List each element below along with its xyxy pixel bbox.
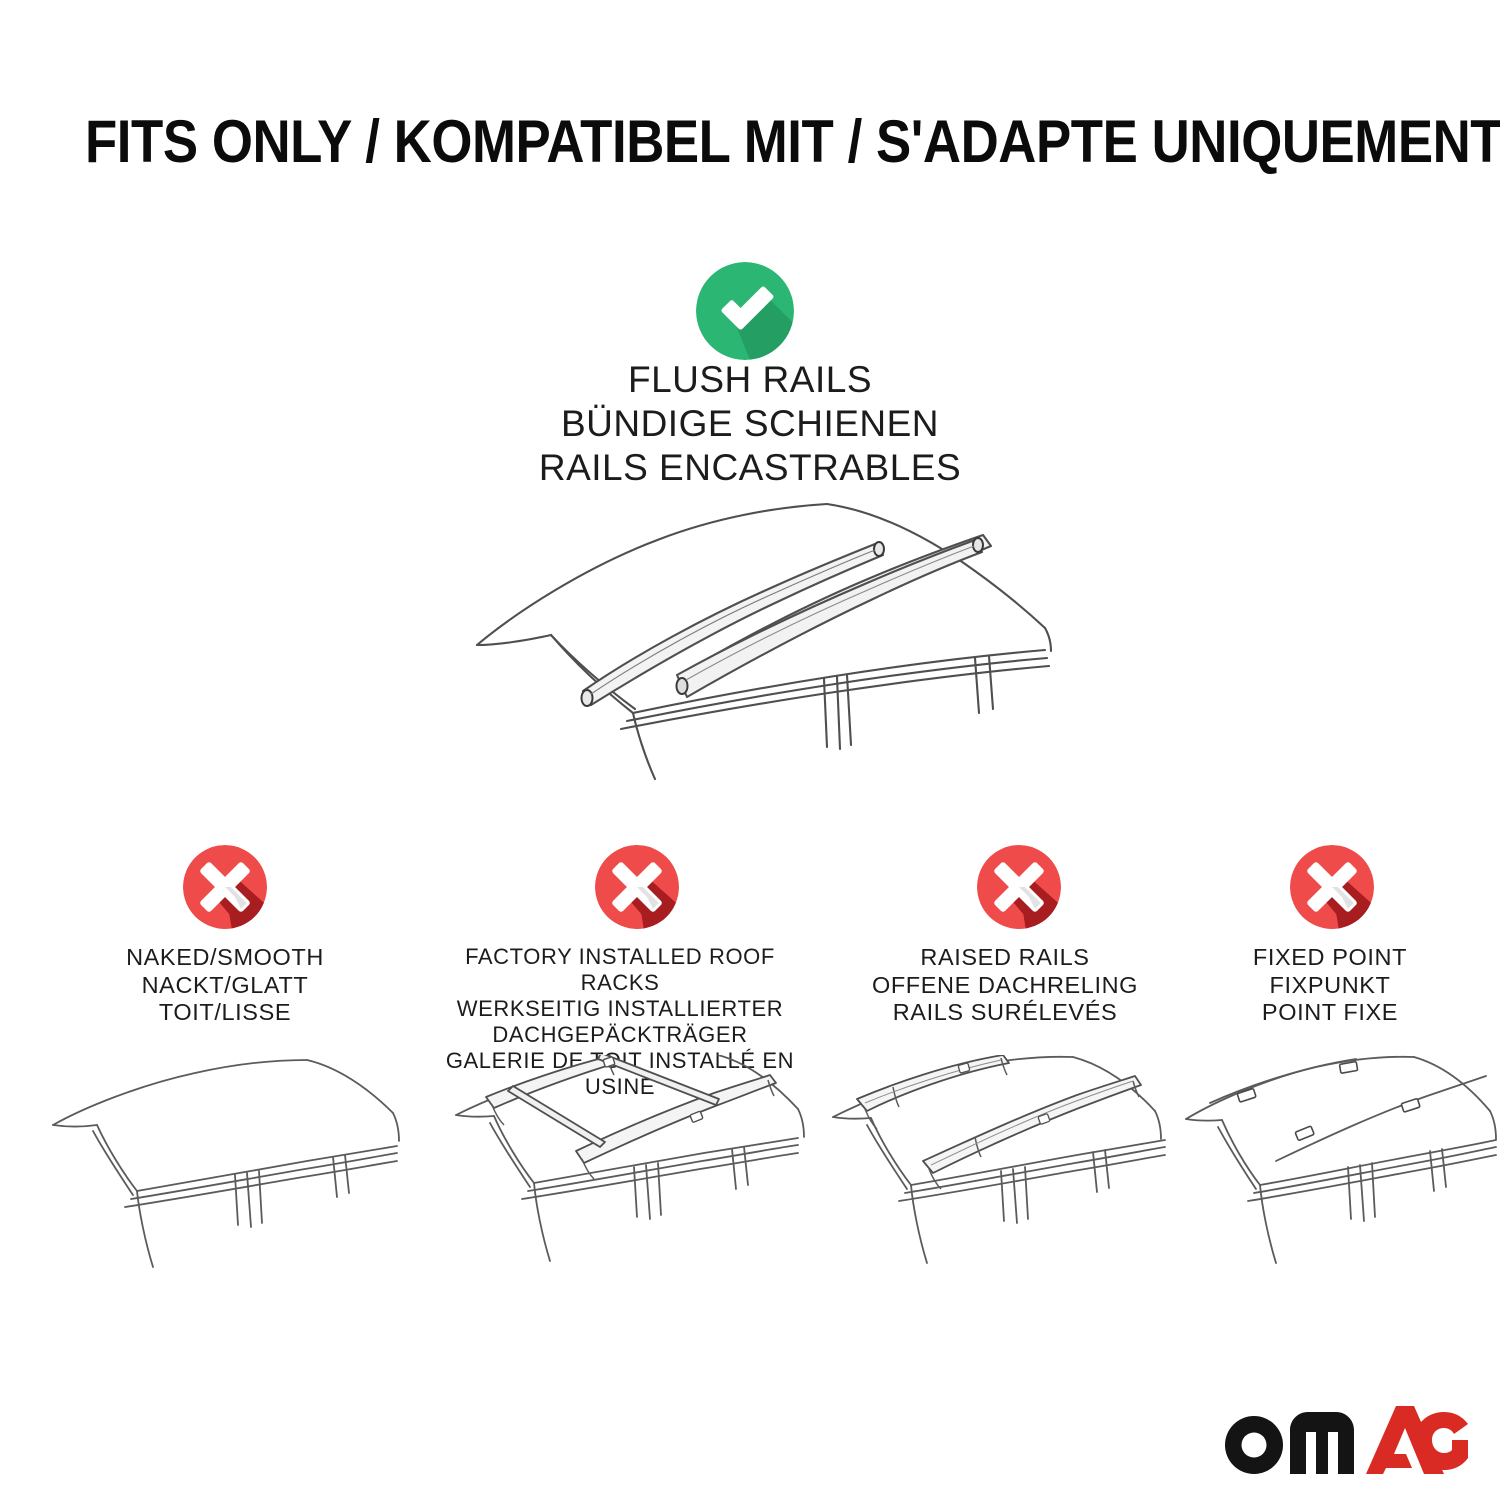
incompatible-item-naked: NAKED/SMOOTH NACKT/GLATT TOIT/LISSE <box>45 845 405 1305</box>
compatible-caption: FLUSH RAILS BÜNDIGE SCHIENEN RAILS ENCAS… <box>0 358 1500 490</box>
car-roof-flush-rails-second-rail <box>455 495 1055 795</box>
car-roof-factory-racks-illustration <box>448 1055 808 1295</box>
incompatible-caption-raised-rails: RAISED RAILS OFFENE DACHRELING RAILS SUR… <box>825 944 1185 1027</box>
caption-line-2: OFFENE DACHRELING <box>825 972 1185 1000</box>
x-circle-icon <box>183 845 267 929</box>
caption-line-1: RAISED RAILS <box>825 944 1185 972</box>
incompatible-caption-naked: NAKED/SMOOTH NACKT/GLATT TOIT/LISSE <box>45 944 405 1027</box>
caption-line-1: FACTORY INSTALLED ROOF RACKS <box>440 944 800 996</box>
check-circle-icon <box>696 262 794 360</box>
car-roof-naked-illustration <box>45 1055 405 1295</box>
compatible-line-1: FLUSH RAILS <box>0 358 1500 402</box>
car-roof-fixed-point-illustration <box>1180 1055 1500 1295</box>
incompatible-item-factory-racks: FACTORY INSTALLED ROOF RACKS WERKSEITIG … <box>440 845 800 1305</box>
x-circle-icon <box>1290 845 1374 929</box>
logo-letter-o <box>1225 1416 1283 1474</box>
caption-line-3: DACHGEPÄCKTRÄGER <box>440 1022 800 1048</box>
page-title: FITS ONLY / KOMPATIBEL MIT / S'ADAPTE UN… <box>85 107 1500 176</box>
incompatible-caption-fixed-point: FIXED POINT FIXPUNKT POINT FIXE <box>1180 944 1480 1027</box>
compatibility-infographic: FITS ONLY / KOMPATIBEL MIT / S'ADAPTE UN… <box>0 0 1500 1500</box>
caption-line-2: NACKT/GLATT <box>45 972 405 1000</box>
caption-line-3: TOIT/LISSE <box>45 999 405 1027</box>
incompatible-item-raised-rails: RAISED RAILS OFFENE DACHRELING RAILS SUR… <box>825 845 1185 1305</box>
car-roof-raised-rails-illustration <box>825 1055 1185 1295</box>
caption-line-2: FIXPUNKT <box>1180 972 1480 1000</box>
caption-line-3: POINT FIXE <box>1180 999 1480 1027</box>
compatible-line-3: RAILS ENCASTRABLES <box>0 446 1500 490</box>
logo-letter-m <box>1290 1412 1354 1474</box>
incompatible-item-fixed-point: FIXED POINT FIXPUNKT POINT FIXE <box>1180 845 1480 1305</box>
x-circle-icon <box>595 845 679 929</box>
x-circle-icon <box>977 845 1061 929</box>
omac-logo <box>1216 1400 1468 1478</box>
caption-line-2: WERKSEITIG INSTALLIERTER <box>440 996 800 1022</box>
caption-line-3: RAILS SURÉLEVÉS <box>825 999 1185 1027</box>
compatible-line-2: BÜNDIGE SCHIENEN <box>0 402 1500 446</box>
caption-line-1: FIXED POINT <box>1180 944 1480 972</box>
caption-line-1: NAKED/SMOOTH <box>45 944 405 972</box>
